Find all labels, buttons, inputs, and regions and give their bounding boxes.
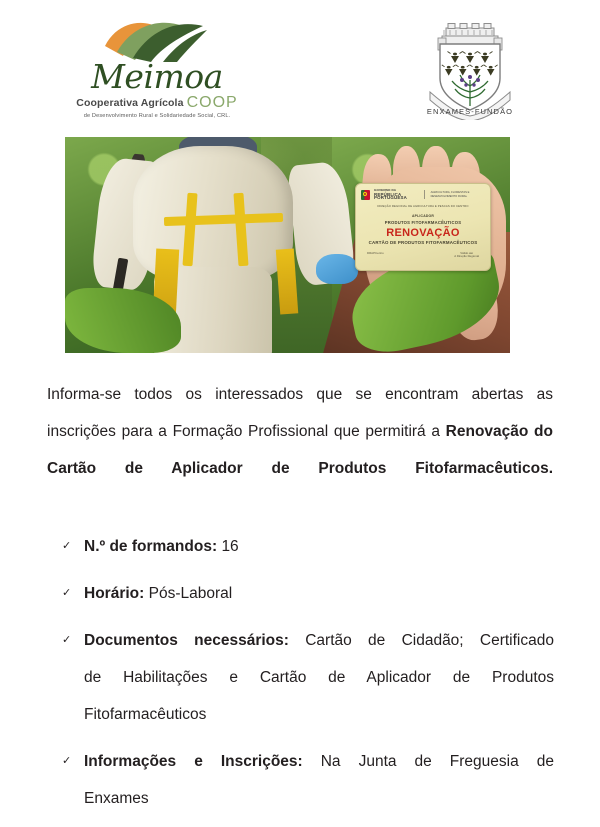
organisation-line: AGRICULTURA, FLORESTAS E DESENVOLVIMENTO…	[431, 191, 485, 197]
bullet-value-informacoes-1: Na Junta de Freguesia de	[321, 753, 554, 770]
coop-word: COOP	[187, 94, 238, 111]
card-cartao-subtitle: CARTÃO DE PRODUTOS FITOFARMACÊUTICOS	[361, 240, 485, 245]
documentos-line-1: Documentos necessários: Cartão de Cidadã…	[84, 622, 554, 659]
bullet-value-horario: Pós-Laboral	[149, 585, 233, 602]
check-icon: ✓	[62, 528, 71, 565]
page-header: Meimoa Cooperativa Agrícola COOP de Dese…	[0, 0, 600, 120]
card-signature-label: A Direção Regional	[454, 255, 479, 259]
license-card-footer: DRAPCentro Válido até A Direção Regional	[361, 252, 485, 259]
list-item-numero-formandos: ✓ N.º de formandos: 16	[62, 528, 554, 565]
check-icon: ✓	[62, 743, 71, 780]
bullet-value-formandos: 16	[221, 538, 238, 555]
bullet-value-documentos-1: Cartão de Cidadão; Certificado	[305, 632, 554, 649]
details-list: ✓ N.º de formandos: 16 ✓ Horário: Pós-La…	[62, 528, 554, 827]
enxames-coat-of-arms-icon: ENXAMES-FUNDÃO	[424, 22, 516, 120]
list-item-informacoes: ✓ Informações e Inscrições: Na Junta de …	[62, 743, 554, 817]
portugal-flag-icon	[361, 190, 370, 200]
bullet-label-documentos: Documentos necessários:	[84, 632, 289, 649]
license-card: GOVERNO DA REPÚBLICA PORTUGUESA AGRICULT…	[355, 183, 491, 271]
regional-direction-line: DIREÇÃO REGIONAL DE AGRICULTURA E PESCAS…	[361, 204, 485, 208]
coop-logo-tagline: Cooperativa Agrícola COOP	[62, 94, 252, 112]
announcement-paragraph: Informa-se todos os interessados que se …	[47, 376, 553, 487]
paragraph-line-1: Informa-se todos os interessados que se …	[47, 386, 553, 403]
card-issuer: DRAPCentro	[367, 252, 384, 259]
bullet-label-horario: Horário:	[84, 585, 144, 602]
yellow-sash-right	[275, 249, 298, 315]
paragraph-bold-line-2: Fitofarmacêuticos.	[415, 460, 553, 477]
crest-motto-text: ENXAMES-FUNDÃO	[427, 107, 513, 116]
informacoes-line-2: Enxames	[84, 780, 554, 817]
announcement-body: Informa-se todos os interessados que se …	[47, 376, 553, 487]
check-icon: ✓	[62, 575, 71, 612]
check-icon: ✓	[62, 622, 71, 659]
coop-logo-name: Meimoa	[62, 60, 252, 94]
card-produtos-label: PRODUTOS FITOFARMACÊUTICOS	[361, 220, 485, 225]
card-validity-block: Válido até A Direção Regional	[454, 252, 479, 259]
informacoes-line-1: Informações e Inscrições: Na Junta de Fr…	[84, 743, 554, 780]
coop-logo: Meimoa Cooperativa Agrícola COOP de Dese…	[62, 16, 252, 119]
documentos-line-3: Fitofarmacêuticos	[84, 696, 554, 733]
card-aplicador-label: APLICADOR	[361, 214, 485, 218]
coop-tagline-text: Cooperativa Agrícola	[76, 97, 183, 109]
bullet-label-informacoes: Informações e Inscrições:	[84, 753, 303, 770]
coop-logo-subtitle: de Desenvolvimento Rural e Solidariedade…	[62, 113, 252, 119]
paragraph-line-2: inscrições para a Formação Profissional …	[47, 423, 440, 440]
card-renovacao-title: RENOVAÇÃO	[361, 227, 485, 239]
leaf-mark-icon	[103, 16, 211, 62]
bullet-label-formandos: N.º de formandos:	[84, 538, 217, 555]
list-item-documentos: ✓ Documentos necessários: Cartão de Cida…	[62, 622, 554, 733]
republic-big-line: REPÚBLICA PORTUGUESA	[374, 193, 418, 200]
republic-branding: GOVERNO DA REPÚBLICA PORTUGUESA	[374, 189, 418, 199]
license-card-header: GOVERNO DA REPÚBLICA PORTUGUESA AGRICULT…	[361, 188, 485, 201]
list-item-horario: ✓ Horário: Pós-Laboral	[62, 575, 554, 612]
documentos-line-2: de Habilitações e Cartão de Aplicador de…	[84, 659, 554, 696]
